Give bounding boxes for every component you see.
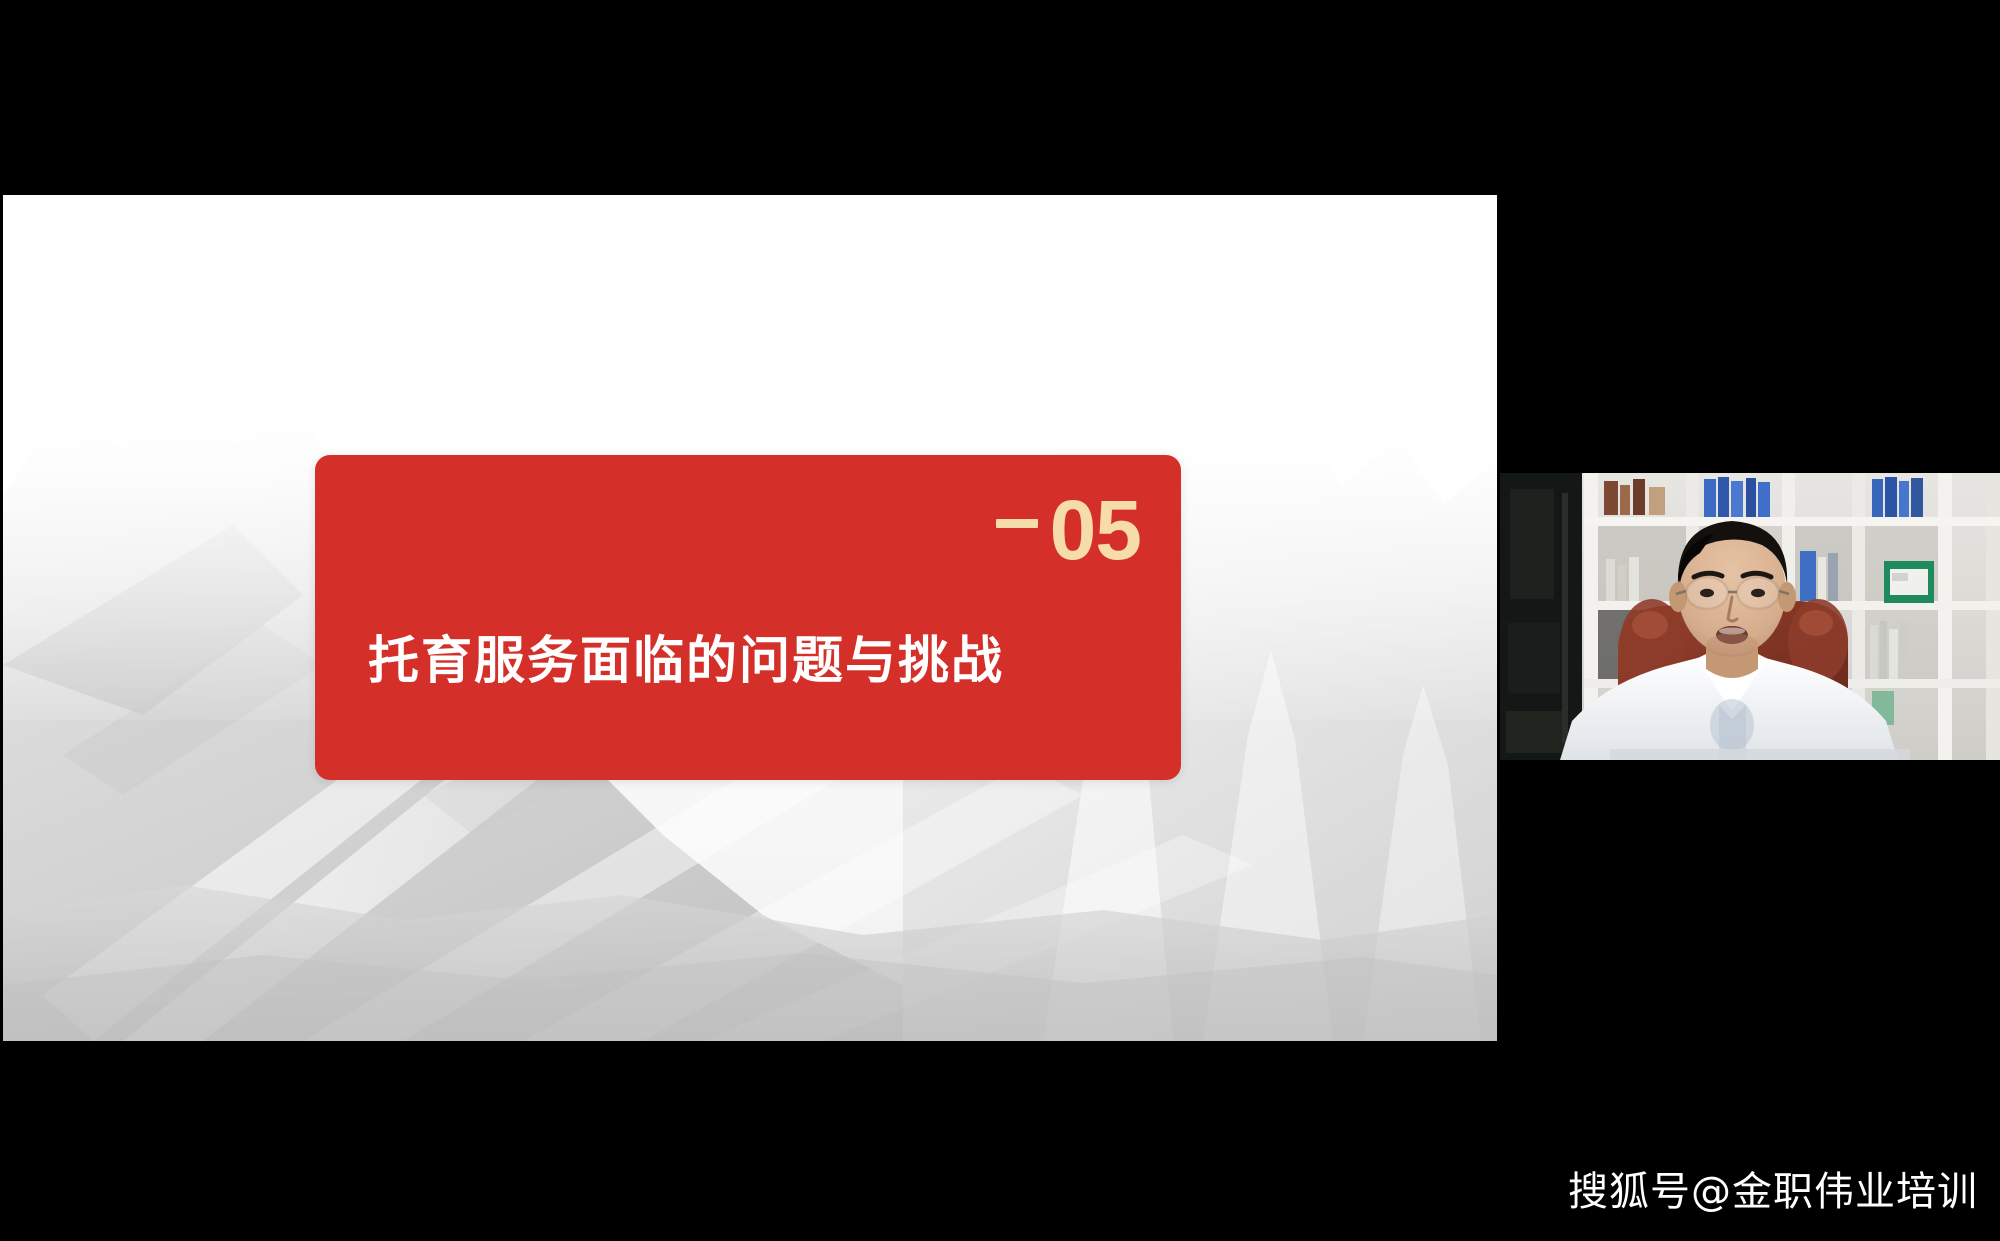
watermark-text: 搜狐号@金职伟业培训 [1568,1159,1978,1217]
presenter-video-feed[interactable] [1500,473,2000,760]
presenter-webcam-panel[interactable] [1500,195,2000,1041]
section-number: 05 [1050,489,1141,571]
presentation-slide: 05 托育服务面临的问题与挑战 [3,195,1497,1041]
video-frame: 05 托育服务面临的问题与挑战 [0,0,2000,1241]
section-number-group: 05 [996,489,1141,571]
slide-title: 托育服务面临的问题与挑战 [368,631,1004,692]
dash-icon [996,519,1038,528]
slide-title-banner: 05 托育服务面临的问题与挑战 [315,455,1181,780]
